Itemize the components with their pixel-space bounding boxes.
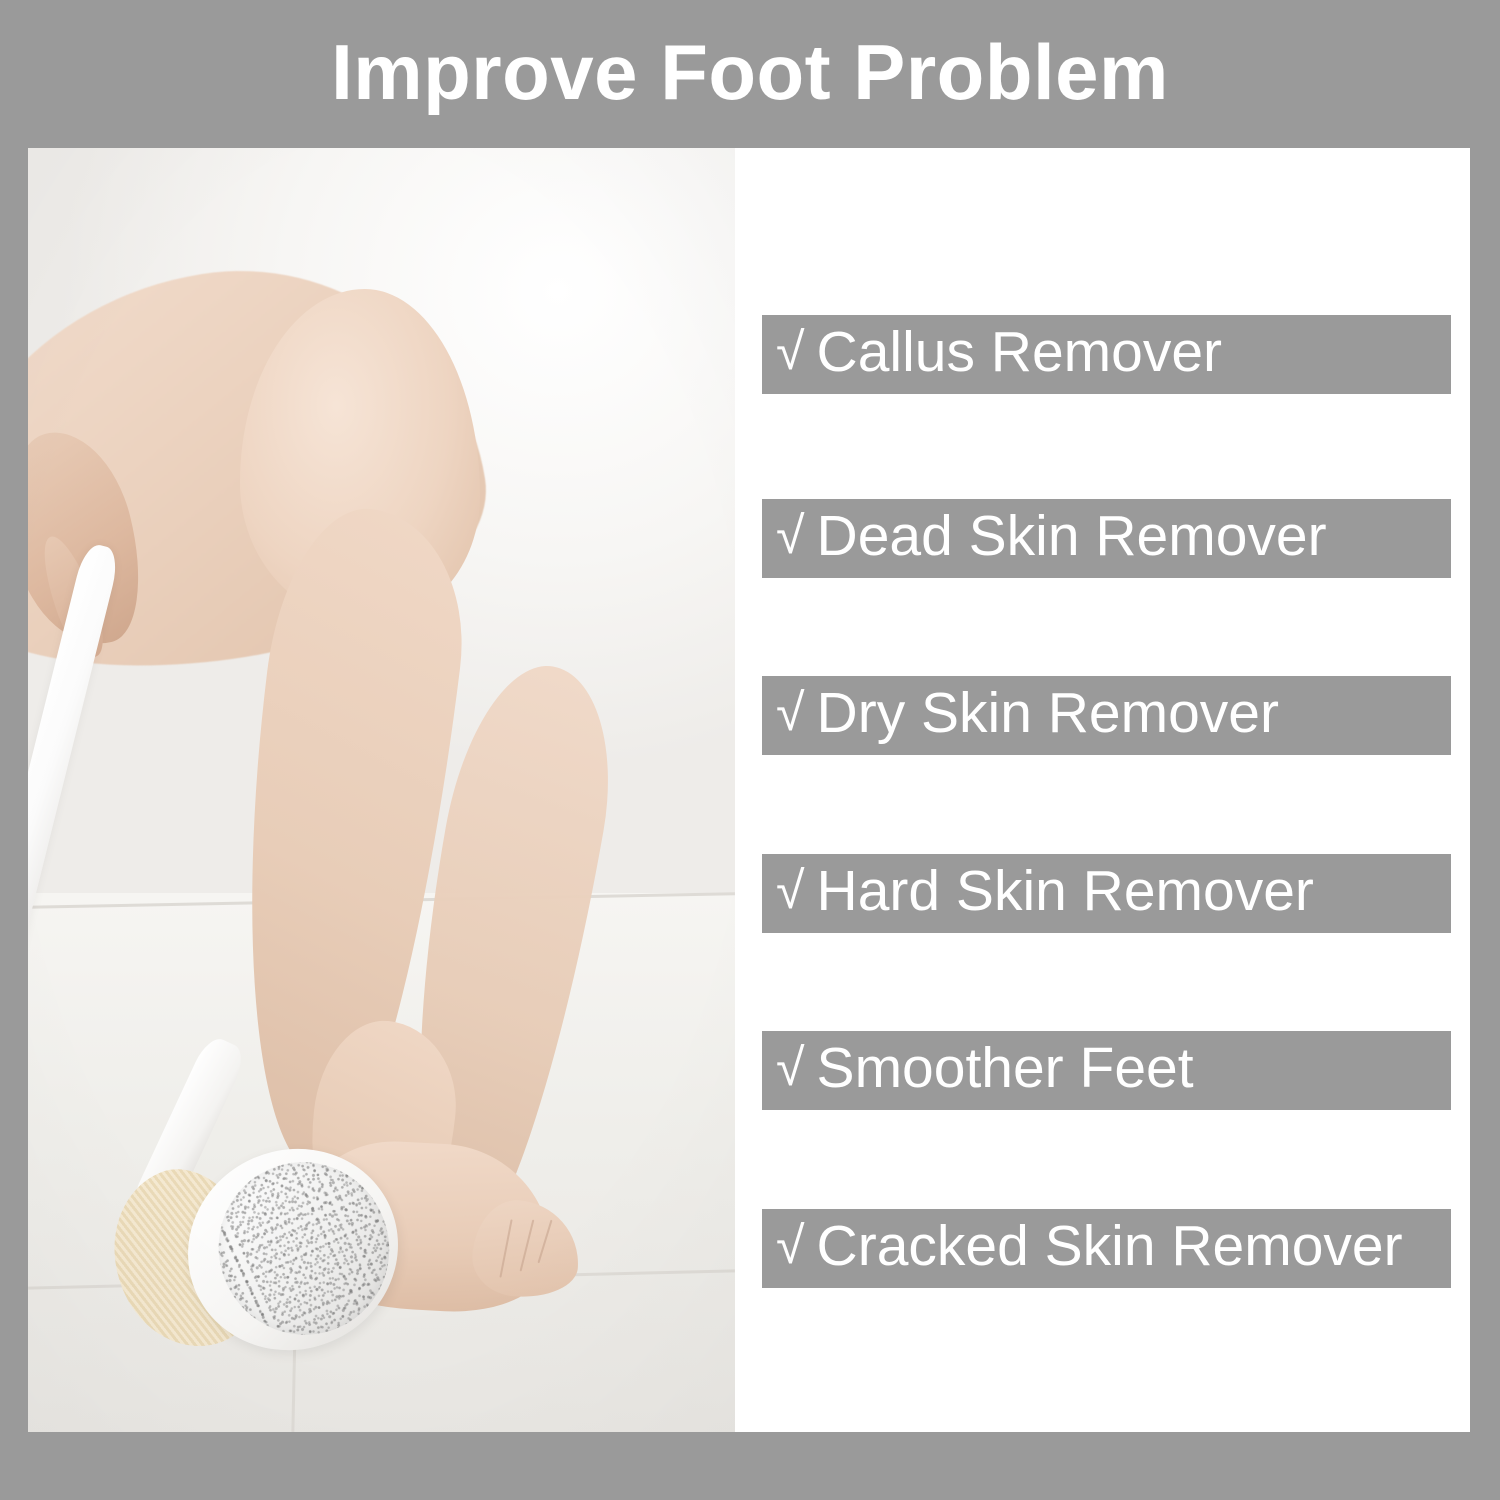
feature-label: Callus Remover	[817, 324, 1222, 386]
check-icon: √	[776, 510, 805, 568]
feature-item-hard-skin-remover: √ Hard Skin Remover	[762, 854, 1451, 933]
feature-item-smoother-feet: √ Smoother Feet	[762, 1031, 1451, 1110]
title-band: Improve Foot Problem	[0, 0, 1500, 148]
feature-label: Smoother Feet	[817, 1040, 1194, 1102]
feature-list: √ Callus Remover √ Dead Skin Remover √ D…	[735, 148, 1470, 1432]
product-photo	[28, 148, 735, 1432]
check-icon: √	[776, 1042, 805, 1100]
content-panel: √ Callus Remover √ Dead Skin Remover √ D…	[28, 148, 1470, 1432]
feature-item-cracked-skin-remover: √ Cracked Skin Remover	[762, 1209, 1451, 1288]
feature-item-dry-skin-remover: √ Dry Skin Remover	[762, 676, 1451, 755]
feature-label: Dead Skin Remover	[817, 508, 1327, 570]
check-icon: √	[776, 326, 805, 384]
feature-label: Dry Skin Remover	[817, 685, 1279, 747]
feature-item-dead-skin-remover: √ Dead Skin Remover	[762, 499, 1451, 578]
check-icon: √	[776, 687, 805, 745]
check-icon: √	[776, 865, 805, 923]
feature-label: Cracked Skin Remover	[817, 1218, 1403, 1280]
page-title: Improve Foot Problem	[331, 33, 1169, 115]
check-icon: √	[776, 1220, 805, 1278]
feature-item-callus-remover: √ Callus Remover	[762, 315, 1451, 394]
feature-label: Hard Skin Remover	[817, 863, 1314, 925]
product-infographic: Improve Foot Problem	[0, 0, 1500, 1500]
